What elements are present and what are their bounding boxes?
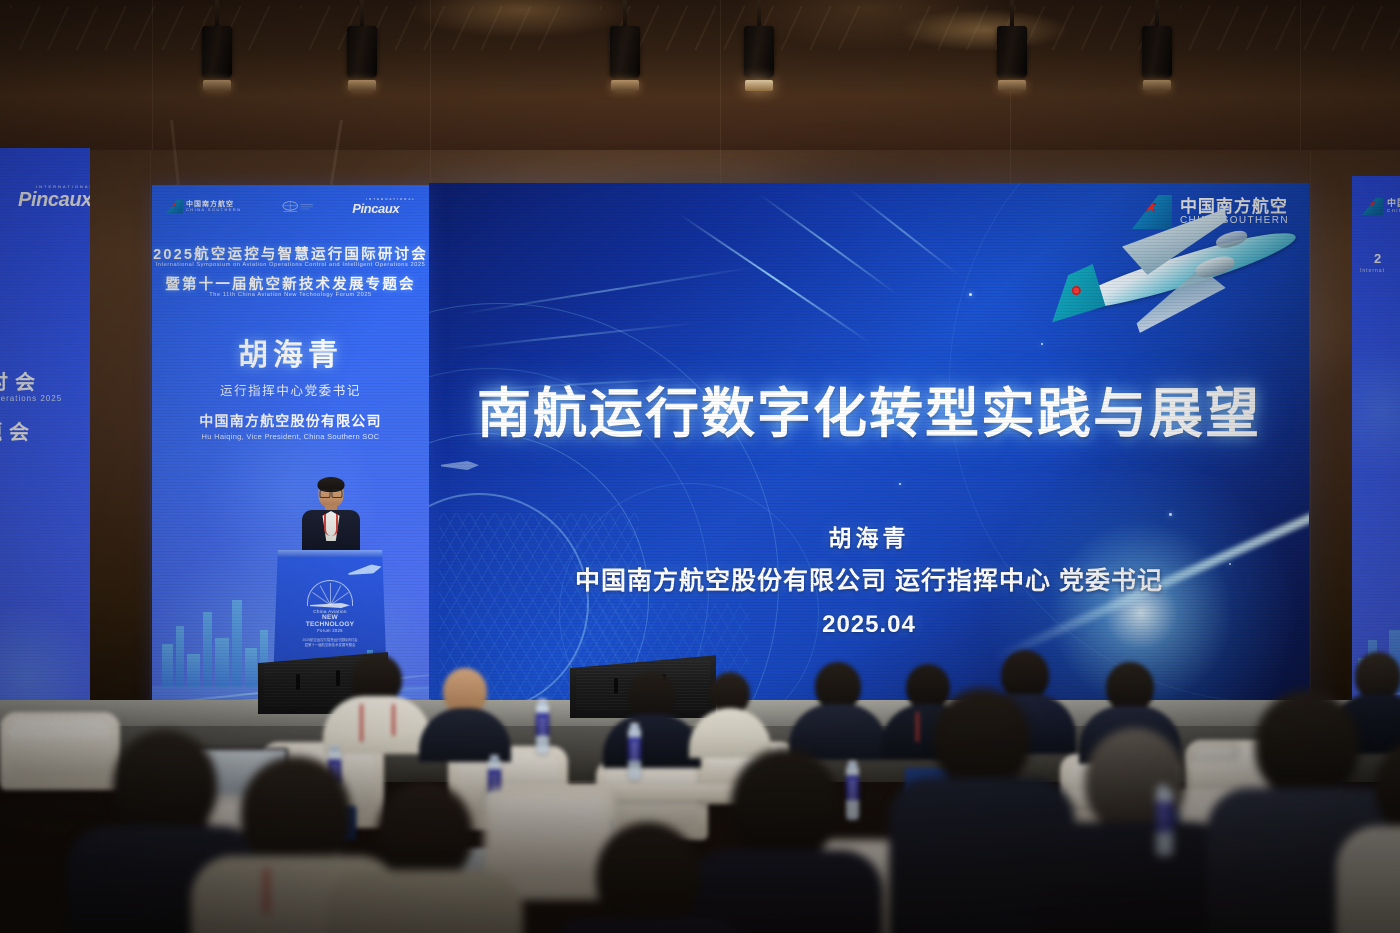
cs-logo-en-right: CHIN [1387, 209, 1400, 214]
china-southern-tail-icon [1362, 198, 1383, 215]
water-bottle [536, 704, 549, 754]
main-presentation-screen: 中国南方航空 CHINA SOUTHERN 南航运行数字化转型实践与展望 胡海青… [429, 183, 1309, 720]
attendee [330, 782, 520, 933]
podium-emblem-ring-icon [307, 580, 353, 606]
pincaux-label: Pincaux [18, 189, 90, 211]
presenter-glasses-icon [320, 489, 343, 495]
edge-banner-left-cn-2: 题会 [0, 416, 36, 445]
edge-banner-left-cn-1: 讨会 [0, 366, 42, 395]
presentation-date: 2025.04 [429, 611, 1309, 639]
stage-light-2 [345, 0, 379, 91]
attendee [690, 672, 770, 756]
podium-forum-emblem: China Aviation NEW TECHNOLOGY Forum 2025… [297, 580, 363, 647]
podium-plane-icon [347, 563, 382, 579]
attendee [322, 654, 432, 752]
cs-logo-en-banner: CHINA SOUTHERN [186, 208, 241, 212]
banner-headline-en-1: International Symposium on Aviation Oper… [152, 262, 429, 268]
pincaux-wordmark-icon: INTERNATIONAL Pincaux [18, 184, 90, 212]
stage-light-4 [742, 0, 776, 91]
banner-headline-en-2: The 11th China Aviation New Technology F… [152, 292, 429, 298]
china-southern-tail-icon [166, 200, 183, 214]
water-bottle [1156, 790, 1173, 856]
banner-speaker-role: 运行指挥中心党委书记 [152, 380, 429, 399]
attendee [1340, 740, 1400, 933]
attendee [548, 822, 748, 933]
edge-banner-left-en-1: Operations 2025 [0, 394, 62, 403]
podium-emblem-sub-en: Forum 2025 [297, 628, 363, 633]
banner-headline-cn-2: 暨第十一届航空新技术发展专题会 [152, 273, 429, 294]
banner-speaker-name: 胡海青 [152, 330, 429, 374]
presenter-affiliation: 中国南方航空股份有限公司 运行指挥中心 党委书记 [429, 561, 1309, 597]
stage-light-3 [608, 0, 642, 91]
edge-banner-right: 中国 CHIN 2 Internat [1352, 176, 1400, 724]
china-southern-logo-right-banner: 中国 CHIN [1362, 198, 1400, 215]
podium-emblem-plane-icon [310, 603, 350, 608]
stage-light-6 [1140, 0, 1174, 91]
banner-headline-cn-1: 2025航空运控与智慧运行国际研讨会 [152, 243, 429, 264]
attendee [604, 672, 700, 764]
attendee [1040, 728, 1230, 933]
pincaux-label: Pincaux [352, 201, 399, 216]
china-southern-logo-banner: 中国南方航空 CHINA SOUTHERN [166, 200, 241, 214]
podium-emblem-cn-2: 暨第十一届航空新技术发展专题会 [297, 642, 363, 647]
presenter-lanyard [324, 514, 338, 536]
institution-emblem-icon [280, 198, 314, 216]
attendee [790, 662, 886, 758]
banner-logo-row: 中国南方航空 CHINA SOUTHERN INTERNATIONAL Pinc… [166, 197, 416, 216]
edge-banner-left: INTERNATIONAL Pincaux 讨会 Operations 2025… [0, 148, 90, 723]
podium-emblem-main-en: NEW TECHNOLOGY [297, 614, 363, 628]
presentation-title: 南航运行数字化转型实践与展望 [429, 369, 1309, 448]
presenter-name: 胡海青 [429, 519, 1309, 553]
conference-hall-scene: INTERNATIONAL Pincaux 讨会 Operations 2025… [0, 0, 1400, 933]
stage-light-1 [200, 0, 234, 91]
attendee [420, 668, 510, 760]
edge-banner-right-en: Internat [1360, 268, 1385, 274]
stage-light-5 [995, 0, 1029, 91]
edge-banner-right-year: 2 [1374, 251, 1381, 266]
attendee-glasses-icon [1184, 744, 1238, 758]
pincaux-wordmark-icon: INTERNATIONAL Pincaux [352, 197, 416, 216]
water-bottle [628, 728, 641, 780]
